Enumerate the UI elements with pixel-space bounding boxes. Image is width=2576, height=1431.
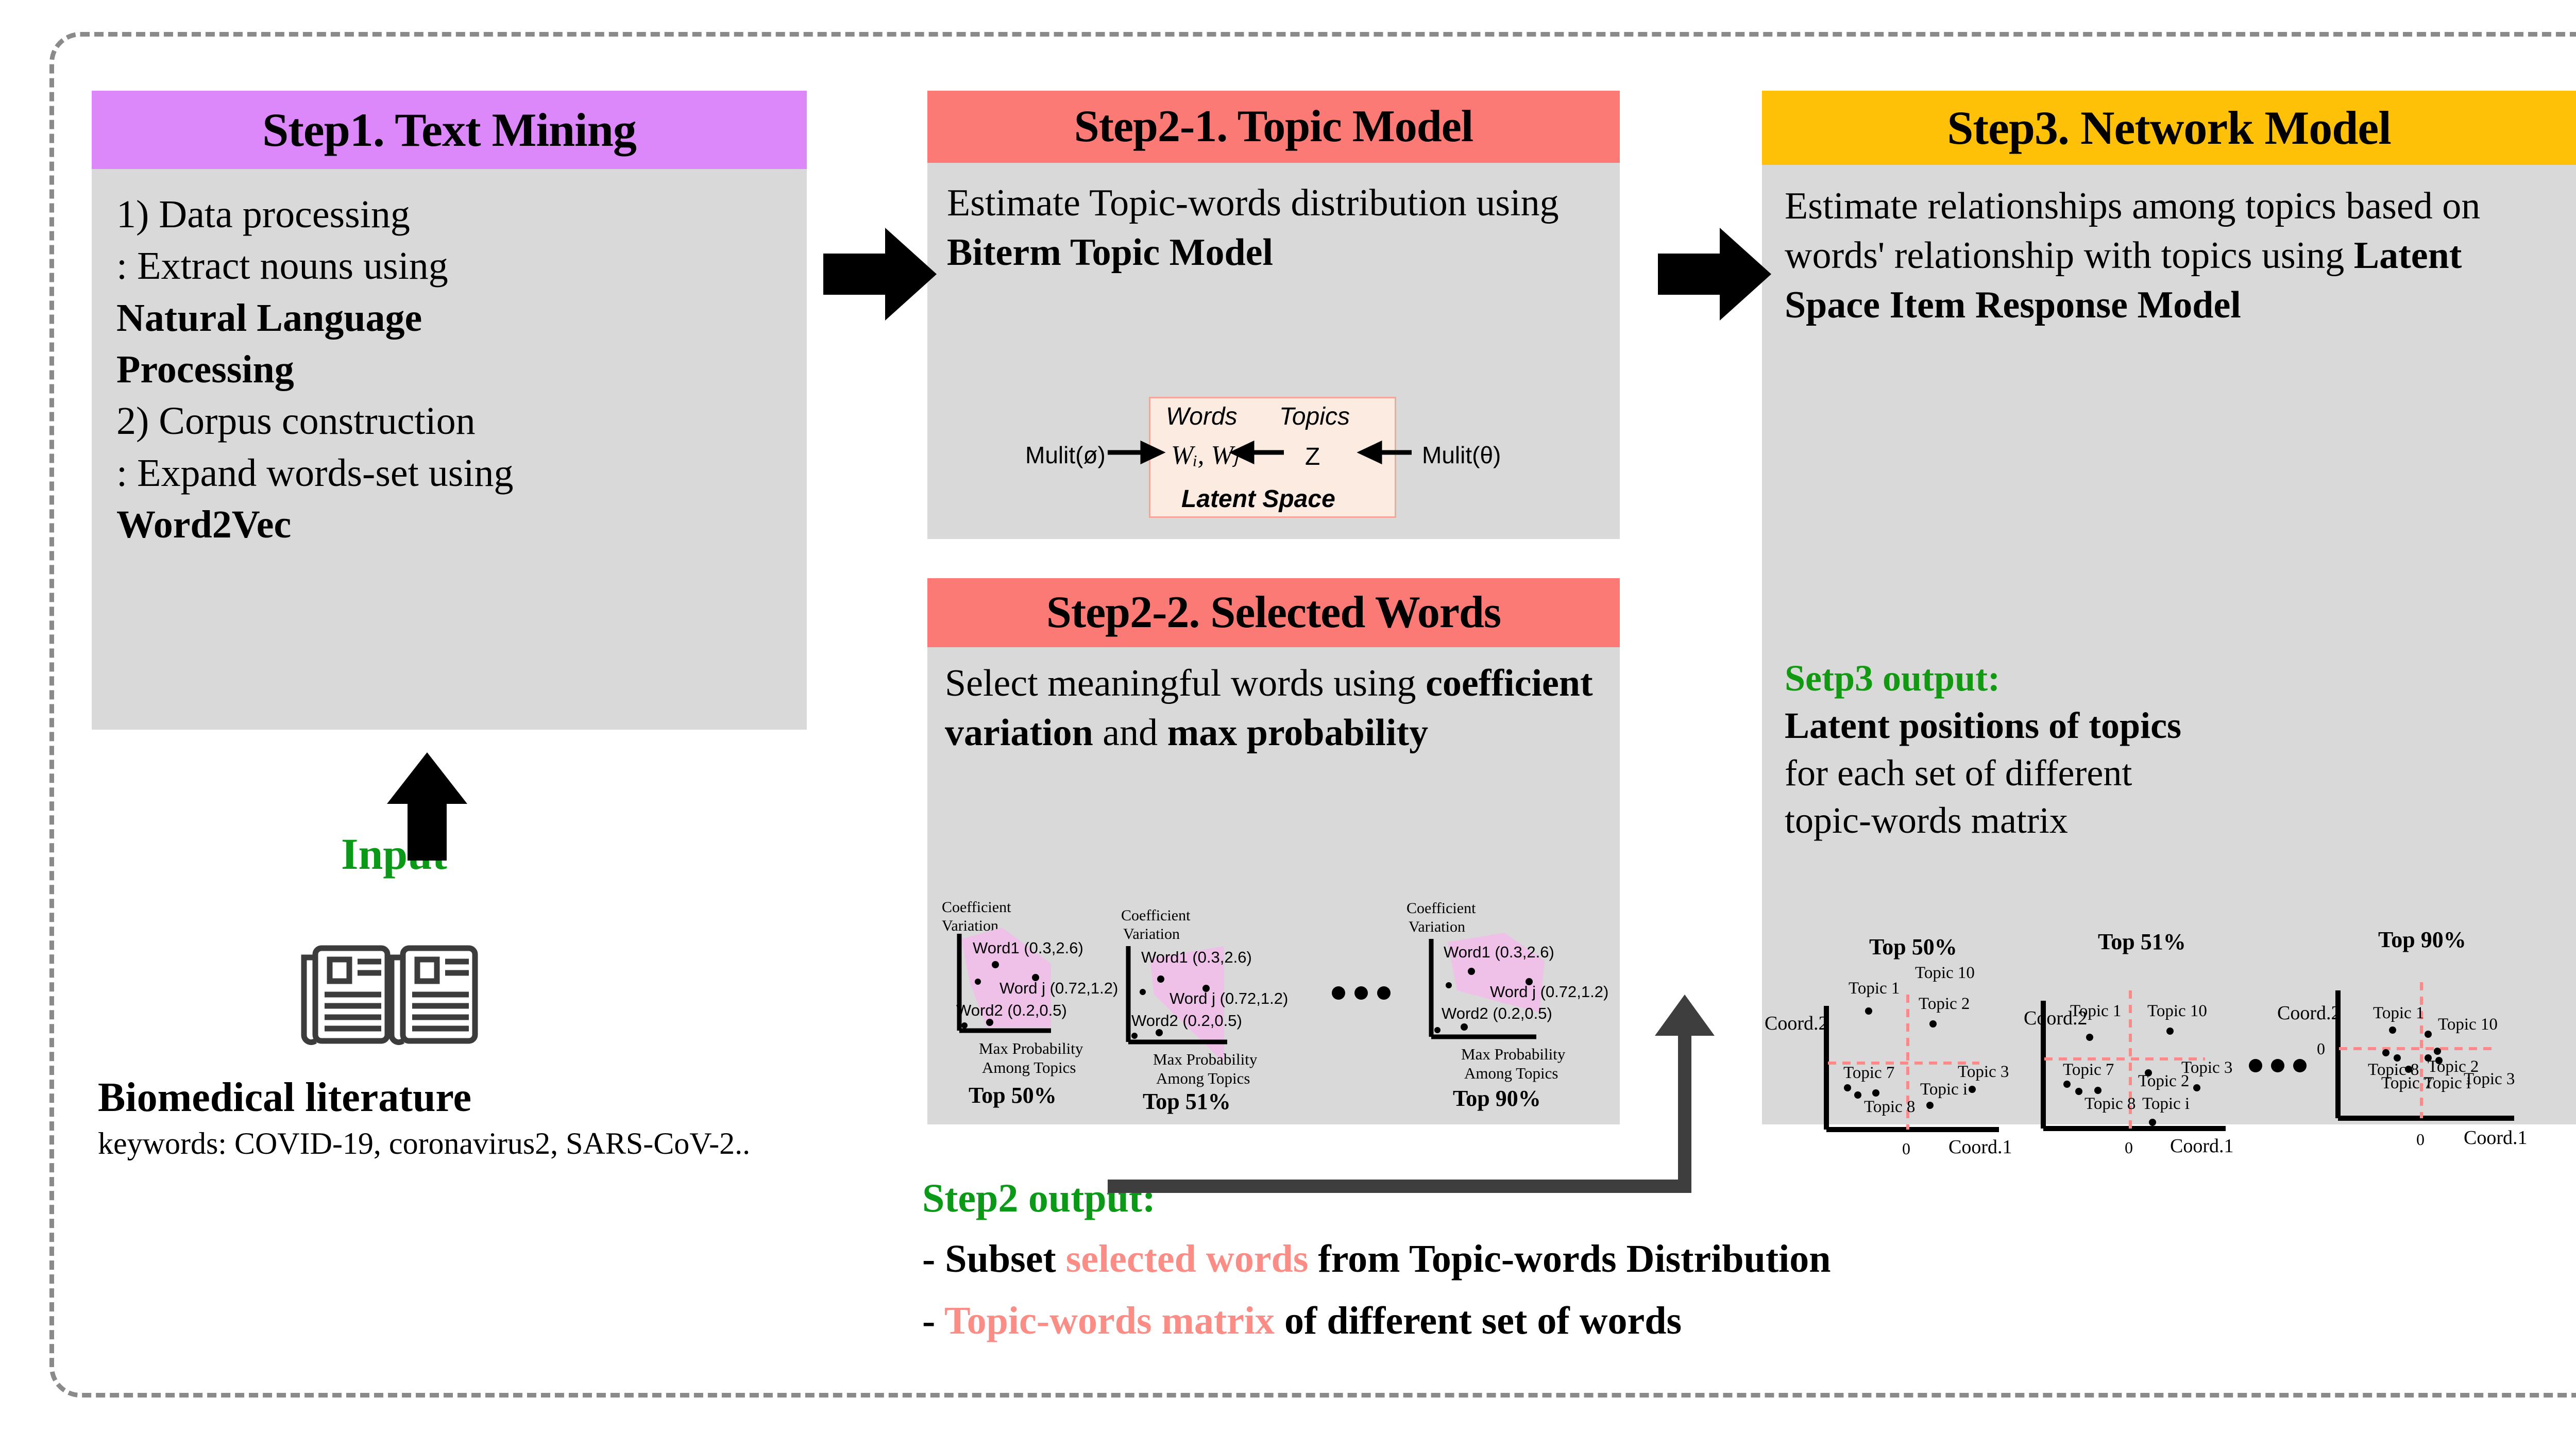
step1-line-6: : Expand words-set using xyxy=(116,447,784,499)
step2-output-label: Step2 output: xyxy=(922,1175,1156,1221)
step1-body: 1) Data processing : Extract nouns using… xyxy=(92,169,807,550)
s2b1-c: from Topic-words Distribution xyxy=(1308,1237,1831,1281)
step2-output-bullet-2: - Topic-words matrix of different set of… xyxy=(922,1299,1682,1343)
step1-header: Step1. Text Mining xyxy=(92,91,807,169)
s2b2-b: Topic-words matrix xyxy=(944,1299,1275,1342)
input-keywords: keywords: COVID-19, coronavirus2, SARS-C… xyxy=(98,1126,750,1161)
step2-output-bullet-1: - Subset selected words from Topic-words… xyxy=(922,1237,1831,1282)
step3-header: Step3. Network Model xyxy=(1762,91,2576,165)
step2-2-header: Step2-2. Selected Words xyxy=(927,578,1620,647)
step1-line-2: : Extract nouns using xyxy=(116,240,784,292)
step1-text-mining-card: Step1. Text Mining 1) Data processing : … xyxy=(92,91,807,730)
input-label: Input xyxy=(341,828,447,880)
s2b1-a: - Subset xyxy=(922,1237,1066,1281)
s2b1-b: selected words xyxy=(1066,1237,1309,1281)
step1-line-7: Word2Vec xyxy=(116,499,784,550)
step2-1-header: Step2-1. Topic Model xyxy=(927,91,1620,163)
step2-2-run-1: Select meaningful words using xyxy=(945,662,1426,704)
step3-output-line-2: for each set of different xyxy=(1785,749,2506,797)
step2-2-run-4: max probability xyxy=(1167,712,1428,754)
latent-topic-var: Z xyxy=(1305,443,1320,471)
latent-space-caption: Latent Space xyxy=(1181,485,1335,513)
step3-network-model-card: Step3. Network Model Estimate relationsh… xyxy=(1762,91,2576,1124)
s2b2-a: - xyxy=(922,1299,944,1342)
s2b2-c: of different set of words xyxy=(1275,1299,1682,1342)
step3-output-line-1: Latent positions of topics xyxy=(1785,702,2506,749)
step2-2-selected-words-card: Step2-2. Selected Words Select meaningfu… xyxy=(927,578,1620,1124)
step3-output-block: Setp3 output: Latent positions of topics… xyxy=(1785,654,2506,845)
input-title: Biomedical literature xyxy=(98,1074,471,1121)
step2-1-body: Estimate Topic-words distribution using … xyxy=(927,163,1620,277)
step3-output-line-3: topic-words matrix xyxy=(1785,797,2506,844)
step3-output-label: Setp3 output: xyxy=(1785,654,2506,702)
latent-right-label: Mulit(θ) xyxy=(1422,441,1501,469)
latent-words-label: Words xyxy=(1166,402,1238,431)
step2-1-run-2: Biterm Topic Model xyxy=(947,231,1273,274)
step1-line-3: Natural Language xyxy=(116,292,784,344)
step3-body: Estimate relationships among topics base… xyxy=(1762,165,2576,330)
step2-2-run-3: and xyxy=(1093,712,1167,754)
step2-2-body: Select meaningful words using coefficien… xyxy=(927,647,1620,757)
step1-line-4: Processing xyxy=(116,344,784,395)
step2-1-run-1: Estimate Topic-words distribution using xyxy=(947,182,1559,224)
latent-topics-label: Topics xyxy=(1279,402,1350,431)
step1-line-1: 1) Data processing xyxy=(116,189,784,240)
latent-left-label: Mulit(ø) xyxy=(1025,441,1106,469)
latent-word-vars: Wᵢ, Wⱼ xyxy=(1171,440,1238,470)
step1-line-5: 2) Corpus construction xyxy=(116,395,784,447)
latent-space-box: Words Topics Wᵢ, Wⱼ Z Latent Space xyxy=(1149,397,1396,518)
